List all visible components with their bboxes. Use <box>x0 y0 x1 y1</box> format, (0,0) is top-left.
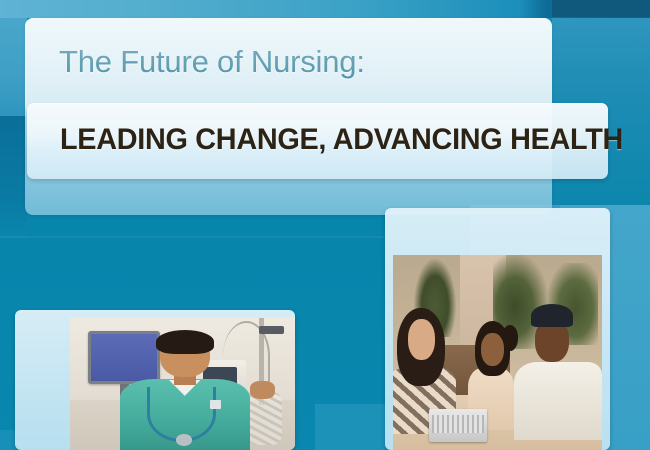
photo-family <box>393 255 602 450</box>
slide-canvas: The Future of Nursing: LEADING CHANGE, A… <box>0 0 650 450</box>
stethoscope-bell-icon <box>176 434 192 446</box>
family-photo-woman-face <box>408 319 435 360</box>
photo-frame-family <box>385 208 610 450</box>
photo-frame-nurse <box>15 310 295 450</box>
family-photo-man-body <box>514 362 602 440</box>
nurse-photo-wall-control <box>259 326 284 334</box>
subtitle-band: LEADING CHANGE, ADVANCING HEALTH <box>27 103 608 179</box>
background-left-dark-block <box>0 116 27 238</box>
nurse-photo-hair <box>156 330 215 354</box>
background-left-upper-block <box>0 14 27 118</box>
family-photo-child-hair-puff <box>502 325 519 350</box>
family-photo-child-face <box>481 333 504 366</box>
nurse-photo-monitor-screen <box>91 334 157 381</box>
nurse-photo-hand <box>250 381 275 398</box>
family-photo-laptop <box>429 409 488 442</box>
page-subtitle: LEADING CHANGE, ADVANCING HEALTH <box>60 125 623 155</box>
background-top-dark-block <box>552 0 650 17</box>
family-photo-man-cap <box>531 304 573 327</box>
photo-nurse <box>70 318 295 450</box>
nurse-photo-monitor <box>88 331 160 384</box>
nurse-photo-badge <box>210 400 221 409</box>
page-title: The Future of Nursing: <box>59 46 365 77</box>
